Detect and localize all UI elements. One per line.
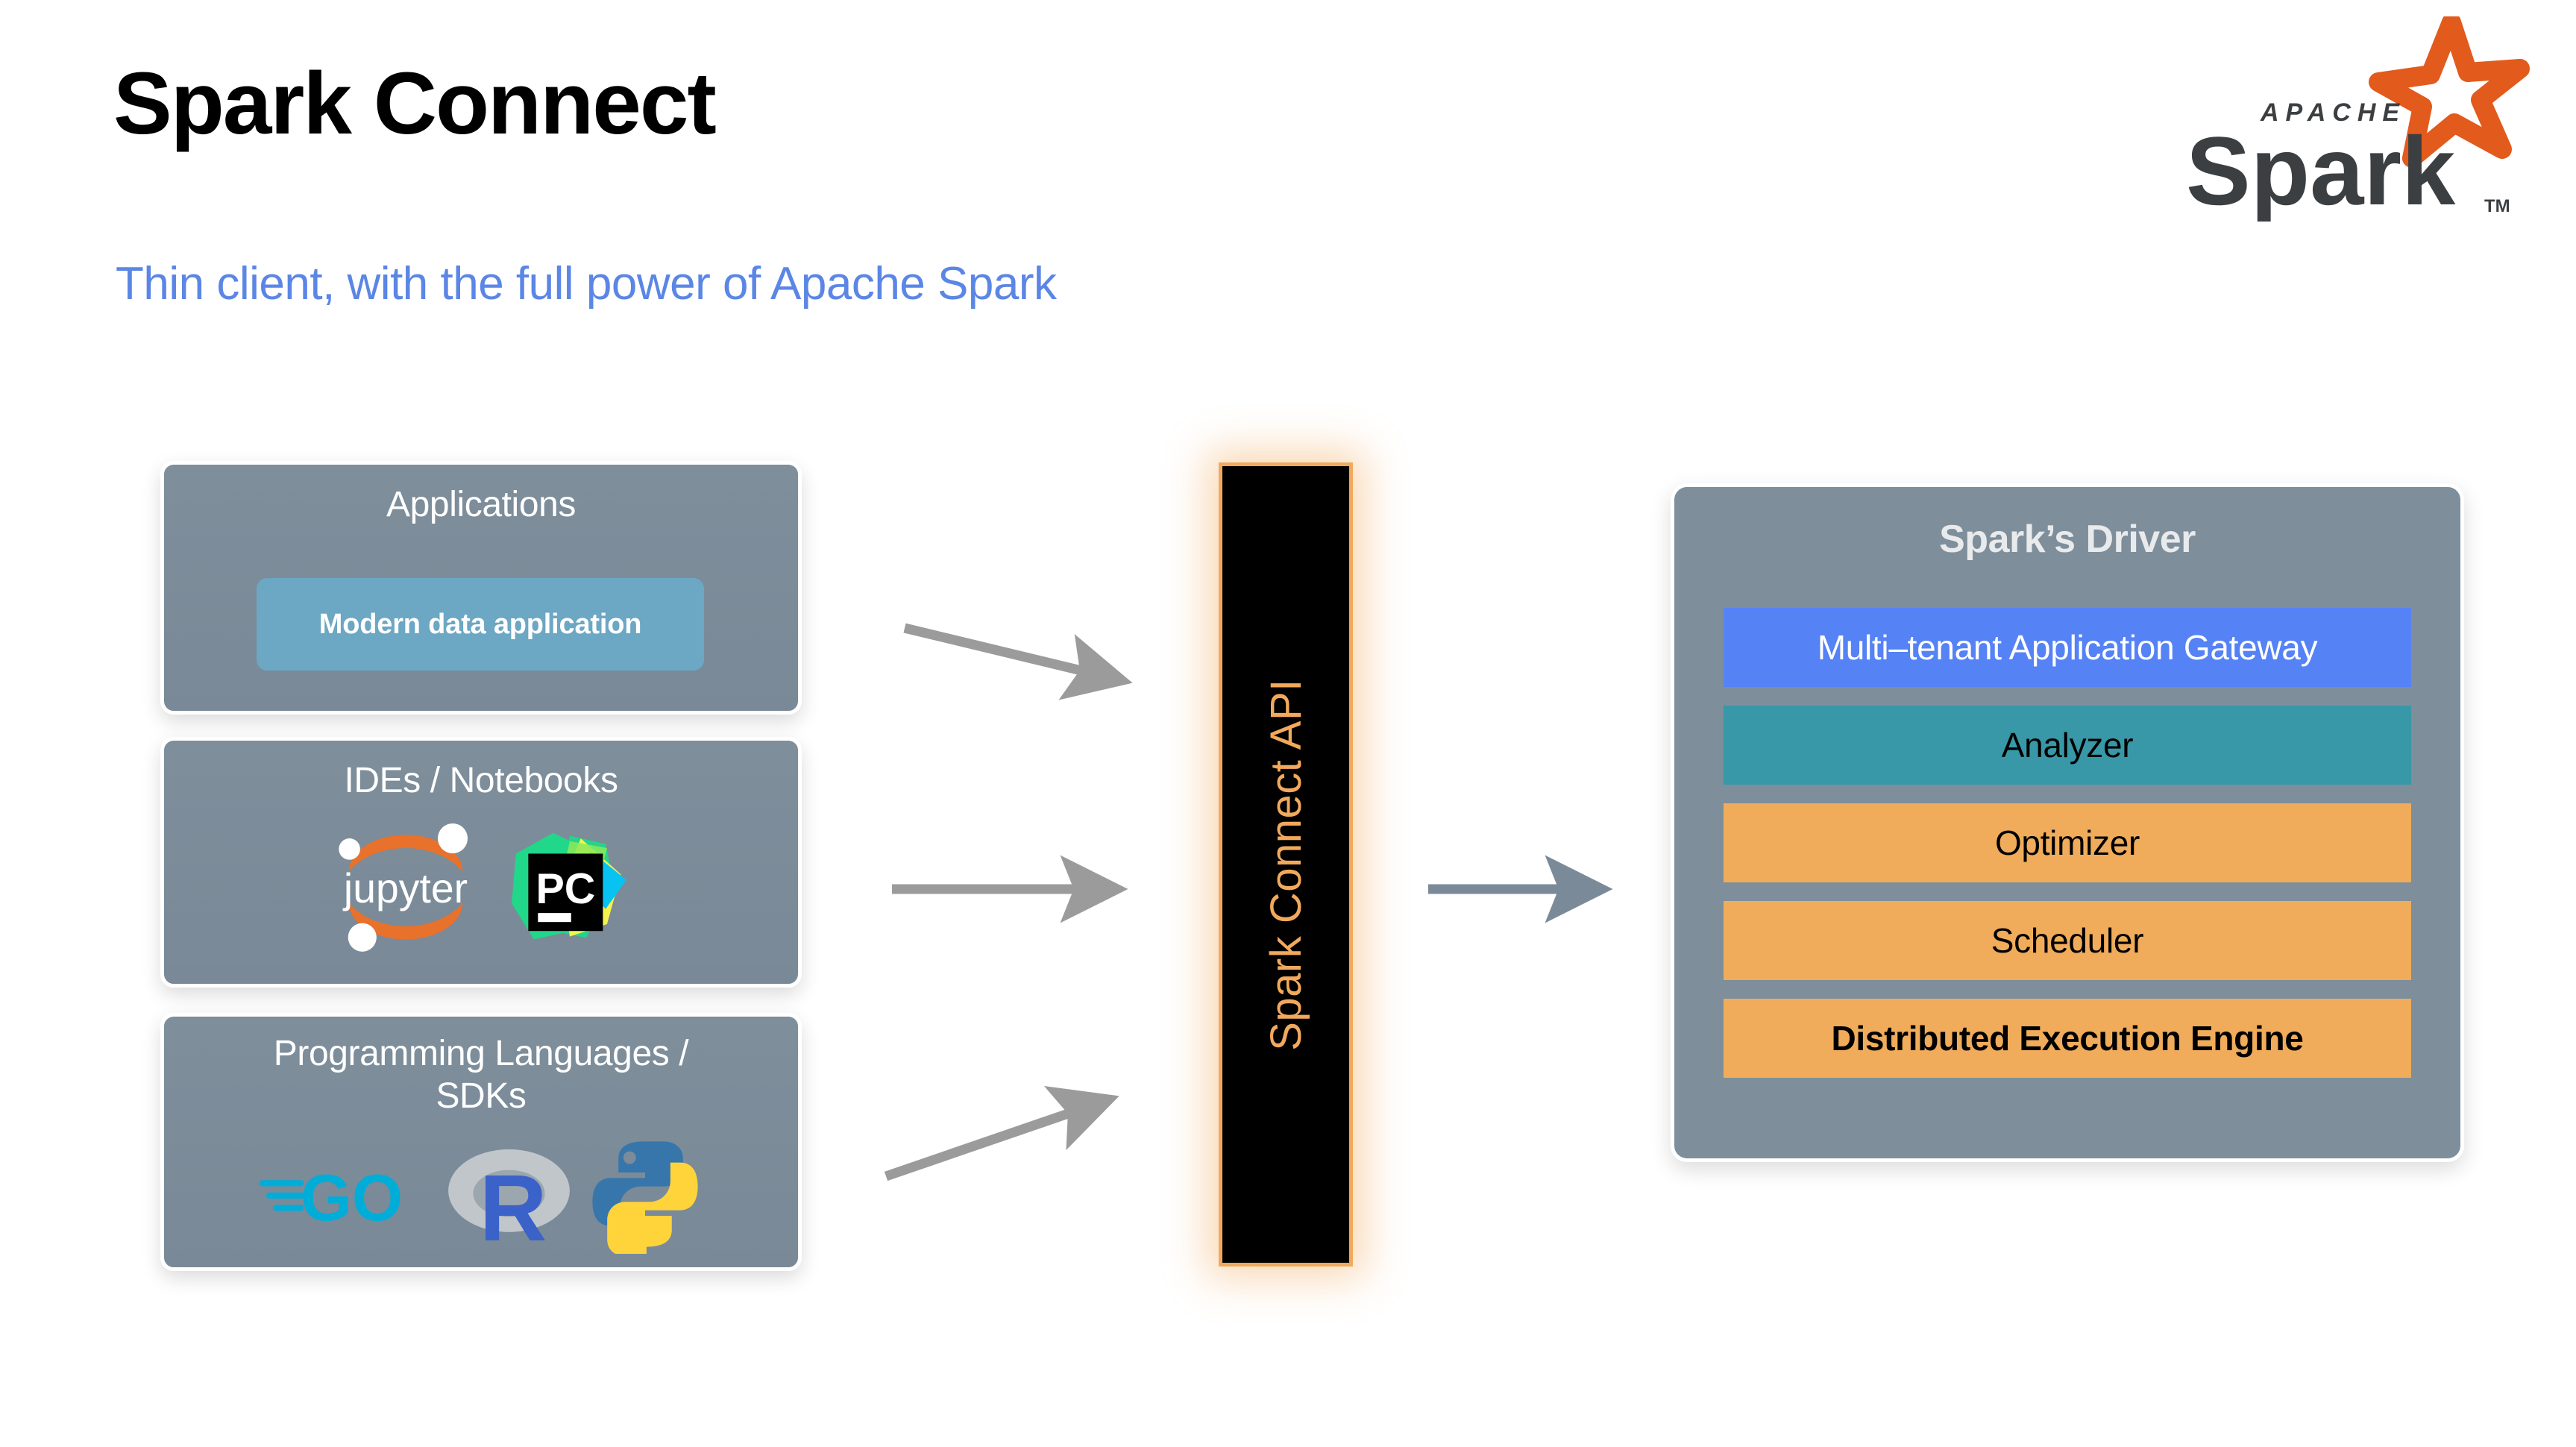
driver-row-execution-engine[interactable]: Distributed Execution Engine xyxy=(1724,999,2411,1078)
driver-row-scheduler-label: Scheduler xyxy=(1991,920,2143,961)
arrow-applications-to-api xyxy=(905,628,1109,677)
driver-row-optimizer[interactable]: Optimizer xyxy=(1724,803,2411,882)
go-icon: GO xyxy=(258,1153,430,1235)
spark-connect-api-bar[interactable]: Spark Connect API xyxy=(1219,462,1353,1266)
client-card-ides-notebooks[interactable]: IDEs / Notebooks jupyter xyxy=(160,737,802,988)
spark-driver-title: Spark’s Driver xyxy=(1674,487,2460,562)
slide-root: Spark Connect Thin client, with the full… xyxy=(0,0,2576,1447)
driver-row-execution-engine-label: Distributed Execution Engine xyxy=(1831,1018,2303,1058)
page-subtitle: Thin client, with the full power of Apac… xyxy=(116,257,1056,310)
driver-row-scheduler[interactable]: Scheduler xyxy=(1724,901,2411,980)
client-card-applications[interactable]: Applications Modern data application xyxy=(160,461,802,715)
ide-logo-row: jupyter PC xyxy=(164,818,798,954)
r-wordmark: R xyxy=(479,1155,547,1253)
arrow-languages-to-api xyxy=(886,1104,1096,1176)
modern-data-application-pill[interactable]: Modern data application xyxy=(257,578,704,671)
client-card-programming-languages[interactable]: Programming Languages / SDKs GO xyxy=(160,1013,802,1271)
apache-spark-logo: APACHE Spark TM xyxy=(2147,16,2535,222)
pycharm-icon: PC xyxy=(503,820,635,952)
card-title-line2: SDKs xyxy=(436,1076,526,1116)
modern-data-application-label: Modern data application xyxy=(319,609,641,641)
card-title-ides-notebooks: IDEs / Notebooks xyxy=(164,741,798,803)
page-title: Spark Connect xyxy=(113,58,715,151)
card-title-programming-languages: Programming Languages / SDKs xyxy=(164,1017,798,1117)
card-title-line1: Programming Languages / xyxy=(274,1034,688,1073)
driver-row-analyzer-label: Analyzer xyxy=(2002,725,2134,765)
trademark-mark: TM xyxy=(2484,196,2510,216)
spark-driver-panel[interactable]: Spark’s Driver Multi–tenant Application … xyxy=(1671,483,2464,1162)
language-logo-row: GO R xyxy=(164,1134,798,1254)
go-wordmark: GO xyxy=(301,1161,403,1234)
driver-row-analyzer[interactable]: Analyzer xyxy=(1724,706,2411,785)
driver-row-optimizer-label: Optimizer xyxy=(1995,823,2140,863)
driver-row-gateway-label: Multi–tenant Application Gateway xyxy=(1818,627,2318,668)
r-icon: R xyxy=(440,1135,578,1253)
spark-wordmark: Spark xyxy=(2186,116,2456,222)
jupyter-icon: jupyter xyxy=(327,818,484,954)
driver-row-list: Multi–tenant Application Gateway Analyze… xyxy=(1724,608,2411,1078)
pycharm-wordmark: PC xyxy=(535,865,595,913)
card-title-applications: Applications xyxy=(164,465,798,527)
driver-row-gateway[interactable]: Multi–tenant Application Gateway xyxy=(1724,608,2411,687)
jupyter-wordmark: jupyter xyxy=(342,865,468,911)
spark-connect-api-label: Spark Connect API xyxy=(1261,679,1311,1051)
python-icon xyxy=(585,1134,705,1254)
